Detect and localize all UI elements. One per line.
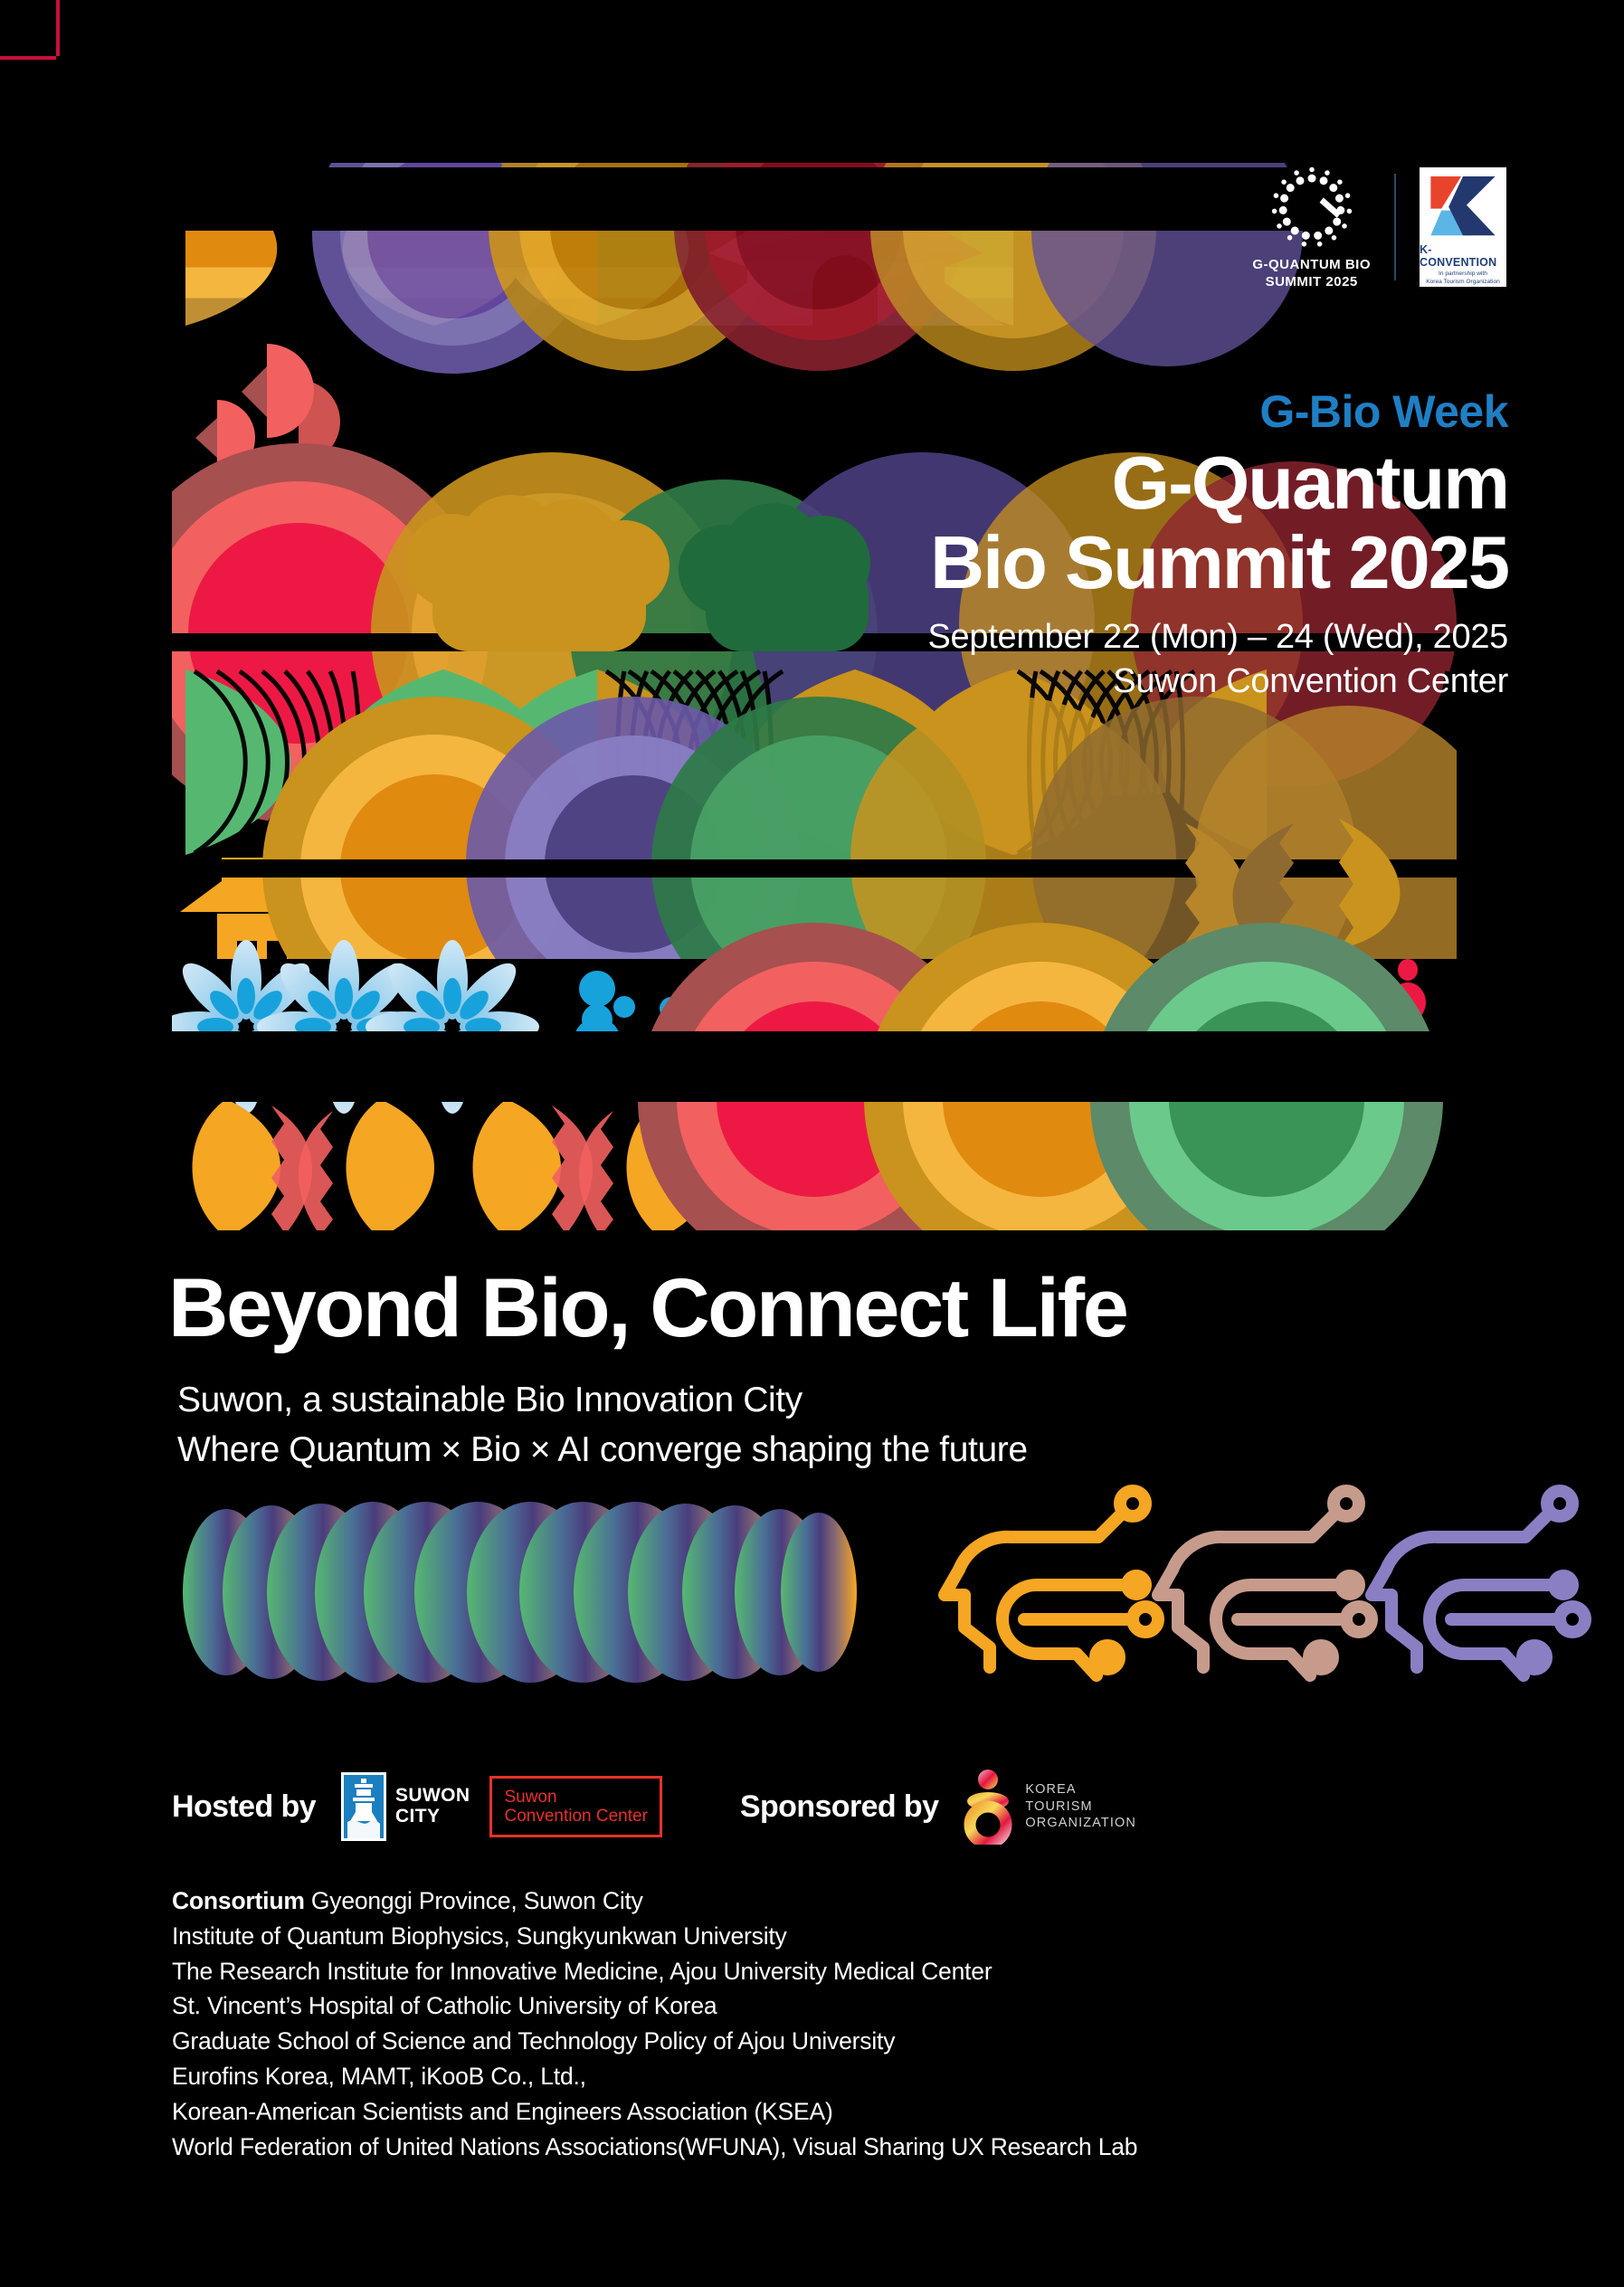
- suwon-city-line1: SUWON: [395, 1786, 470, 1807]
- consortium-line: Graduate School of Science and Technolog…: [172, 2024, 1137, 2059]
- credits-row: Hosted by: [172, 1769, 1136, 1845]
- logo-divider: [1394, 174, 1396, 280]
- consortium-line: World Federation of United Nations Assoc…: [172, 2130, 1137, 2165]
- gquantum-logo-line2: SUMMIT 2025: [1252, 274, 1371, 291]
- suwon-tower-icon: [344, 1775, 384, 1838]
- hosted-by-label: Hosted by: [172, 1789, 316, 1825]
- kconvention-title: K-CONVENTION: [1420, 243, 1506, 269]
- event-title-line1: G-Quantum: [928, 443, 1508, 523]
- kconvention-subtitle: In partnership with Korea Tourism Organi…: [1426, 270, 1500, 287]
- event-date: September 22 (Mon) – 24 (Wed), 2025: [928, 615, 1508, 660]
- kconvention-logo: K-CONVENTION In partnership with Korea T…: [1420, 167, 1506, 287]
- consortium-block: Consortium Gyeonggi Province, Suwon City…: [172, 1884, 1137, 2165]
- suwon-city-line2: CITY: [395, 1807, 470, 1827]
- gquantum-logo-caption: G-QUANTUM BIO SUMMIT 2025: [1252, 257, 1371, 291]
- slogan-sub-line2: Where Quantum × Bio × AI converge shapin…: [177, 1425, 1028, 1475]
- event-venue: Suwon Convention Center: [928, 660, 1508, 704]
- event-kicker: G-Bio Week: [928, 389, 1508, 434]
- kconvention-sub1: In partnership with: [1426, 270, 1500, 279]
- poster-root: G-QUANTUM BIO SUMMIT 2025 K-CONVENTION I…: [0, 0, 1624, 2287]
- scc-line1: Suwon: [504, 1788, 647, 1807]
- kto-figure-icon: [962, 1769, 1014, 1845]
- kto-line1: KOREA: [1025, 1781, 1136, 1798]
- consortium-line: Institute of Quantum Biophysics, Sungkyu…: [172, 1919, 1137, 1954]
- sponsored-by-label: Sponsored by: [740, 1789, 939, 1825]
- consortium-line: Korean-American Scientists and Engineers…: [172, 2094, 1137, 2130]
- consortium-label: Consortium: [172, 1887, 305, 1914]
- gquantum-logo: G-QUANTUM BIO SUMMIT 2025: [1252, 163, 1371, 291]
- event-header: G-Bio Week G-Quantum Bio Summit 2025 Sep…: [928, 389, 1508, 703]
- event-title-line2: Bio Summit 2025: [928, 523, 1508, 603]
- quantum-burst-icon: [1263, 163, 1361, 250]
- sponsor-group: Sponsored by: [740, 1769, 1136, 1845]
- suwon-city-mark-icon: [341, 1772, 386, 1841]
- kto-line3: ORGANIZATION: [1025, 1815, 1136, 1832]
- slogan-sub-line1: Suwon, a sustainable Bio Innovation City: [177, 1375, 1028, 1425]
- gquantum-logo-line1: G-QUANTUM BIO: [1252, 257, 1371, 274]
- kto-line2: TOURISM: [1025, 1798, 1136, 1816]
- kto-logo: KOREA TOURISM ORGANIZATION: [962, 1769, 1136, 1845]
- header-logos: G-QUANTUM BIO SUMMIT 2025 K-CONVENTION I…: [1252, 163, 1506, 291]
- consortium-first-value: Gyeonggi Province, Suwon City: [311, 1887, 643, 1914]
- consortium-first-line: Consortium Gyeonggi Province, Suwon City: [172, 1884, 1137, 1919]
- slogan-main: Beyond Bio, Connect Life: [168, 1267, 1126, 1350]
- crop-mark-tl-h: [0, 56, 56, 60]
- slogan-sub: Suwon, a sustainable Bio Innovation City…: [177, 1375, 1028, 1476]
- consortium-line: The Research Institute for Innovative Me…: [172, 1954, 1137, 1989]
- consortium-line: St. Vincent’s Hospital of Catholic Unive…: [172, 1988, 1137, 2024]
- kconvention-sub2: Korea Tourism Organization: [1426, 279, 1500, 287]
- kto-text: KOREA TOURISM ORGANIZATION: [1025, 1781, 1136, 1833]
- suwon-city-logo: SUWON CITY: [341, 1772, 470, 1841]
- suwon-convention-center-logo: Suwon Convention Center: [489, 1776, 661, 1838]
- consortium-line: Eurofins Korea, MAMT, iKooB Co., Ltd.,: [172, 2059, 1137, 2094]
- suwon-city-text: SUWON CITY: [395, 1786, 470, 1827]
- k-letter-mark-icon: [1427, 173, 1499, 242]
- scc-line2: Convention Center: [504, 1807, 647, 1826]
- crop-mark-tl-v: [56, 0, 60, 56]
